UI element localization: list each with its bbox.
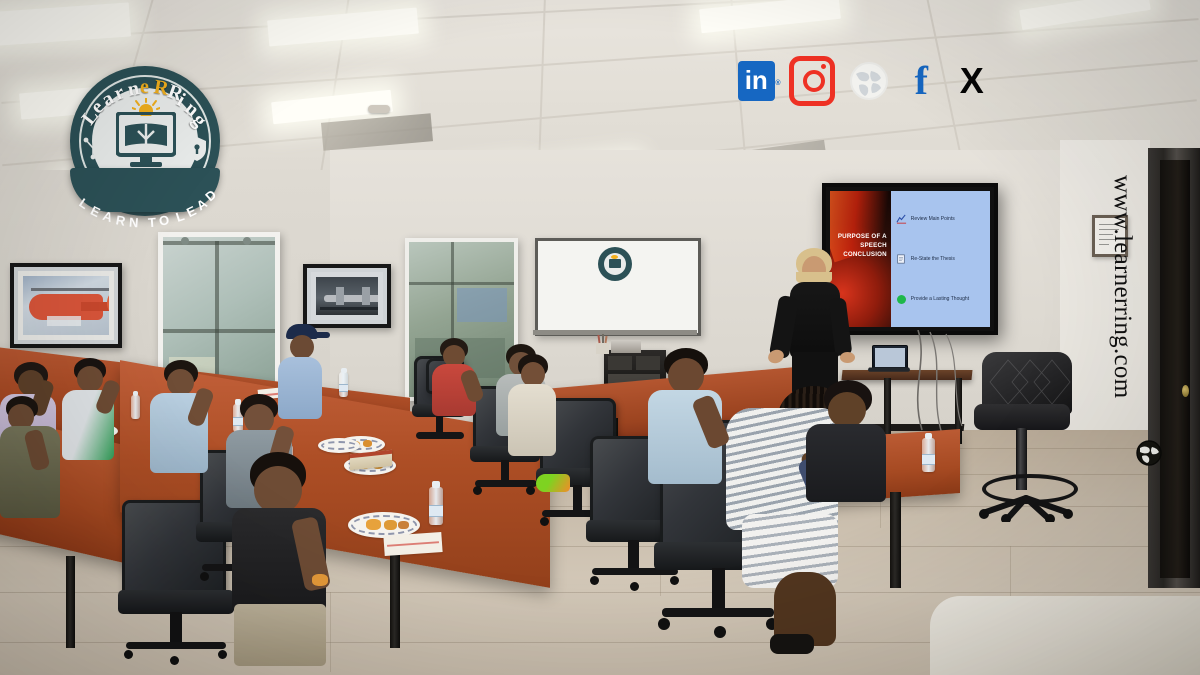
linkedin-icon[interactable]: in ®: [738, 61, 775, 101]
table-leg: [390, 548, 400, 648]
student-blue-tee-back: [646, 348, 734, 498]
tissue-box: [611, 340, 641, 353]
slide-bullet: Provide a Lasting Thought: [896, 294, 985, 305]
student-foreground-dark: [228, 452, 348, 674]
logo-letter: e: [140, 76, 149, 99]
framed-osprey-photo: [303, 264, 391, 328]
learnerring-seal: [598, 247, 632, 281]
slide-bullet-text: Review Main Points: [911, 216, 955, 222]
whiteboard[interactable]: [535, 238, 701, 336]
classroom-photo: PURPOSE OF A SPEECH CONCLUSION Review Ma…: [0, 0, 1200, 675]
green-sneakers: [536, 474, 570, 492]
line-chart-icon: [896, 214, 907, 225]
water-bottle: [429, 487, 443, 525]
instagram-icon[interactable]: [789, 56, 836, 106]
green-dot-icon: [896, 294, 907, 305]
snack-in-hand: [312, 574, 328, 586]
document-icon: [896, 254, 907, 265]
framed-helicopter-photo: [10, 263, 122, 348]
slide-bullet-panel: Review Main Points Re-State the Thesis: [891, 191, 990, 327]
water-bottle: [339, 372, 348, 397]
water-bottle: [922, 438, 935, 472]
logo-ribbon: L E A R N T O L E A D: [62, 158, 228, 236]
facebook-label: f: [915, 58, 928, 103]
student-cream-tee: [506, 354, 564, 464]
smoke-detector: [368, 105, 390, 113]
whiteboard-marker-tray: [533, 330, 697, 335]
slide-bullet: Review Main Points: [896, 214, 985, 225]
slide-bullet-text: Re-State the Thesis: [911, 256, 955, 262]
snack-plate: [318, 438, 360, 453]
logo-tagline: L E A R N T O L E A D: [70, 174, 220, 214]
slide-title-line: PURPOSE OF A: [838, 232, 887, 241]
shorts: [234, 604, 326, 666]
student-light-blue-tee: [148, 360, 218, 480]
facebook-icon[interactable]: f: [903, 61, 940, 101]
x-twitter-icon[interactable]: X: [954, 61, 991, 101]
globe-icon: [1136, 440, 1162, 466]
slide-bullet-text: Provide a Lasting Thought: [911, 296, 969, 302]
globe-icon[interactable]: [849, 61, 889, 101]
slide-bullet: Re-State the Thesis: [896, 254, 985, 265]
shoe: [770, 634, 814, 654]
student-red-sleeve: [428, 338, 482, 418]
network-node-icon: [82, 136, 104, 160]
student-dark-tee-right: [802, 380, 898, 510]
door-knob[interactable]: [1182, 385, 1189, 397]
head: [254, 466, 302, 514]
learnerring-logo: L e a r n e R R i n g: [62, 62, 228, 238]
water-bottle: [131, 395, 140, 419]
website-watermark: www.learnerring.com: [1096, 175, 1136, 495]
drafting-chair[interactable]: [968, 352, 1080, 530]
student-olive-hoodie: [0, 396, 72, 526]
x-label: X: [960, 60, 984, 101]
napkin: [383, 532, 442, 556]
table-leg: [66, 556, 75, 648]
door[interactable]: [1160, 160, 1190, 578]
pencil-cup: [596, 342, 609, 354]
head: [290, 335, 314, 359]
white-cloth: [930, 596, 1200, 675]
registered-mark: ®: [775, 65, 780, 103]
social-icon-bar: in ® f X: [738, 57, 990, 105]
linkedin-label: in: [745, 65, 768, 95]
